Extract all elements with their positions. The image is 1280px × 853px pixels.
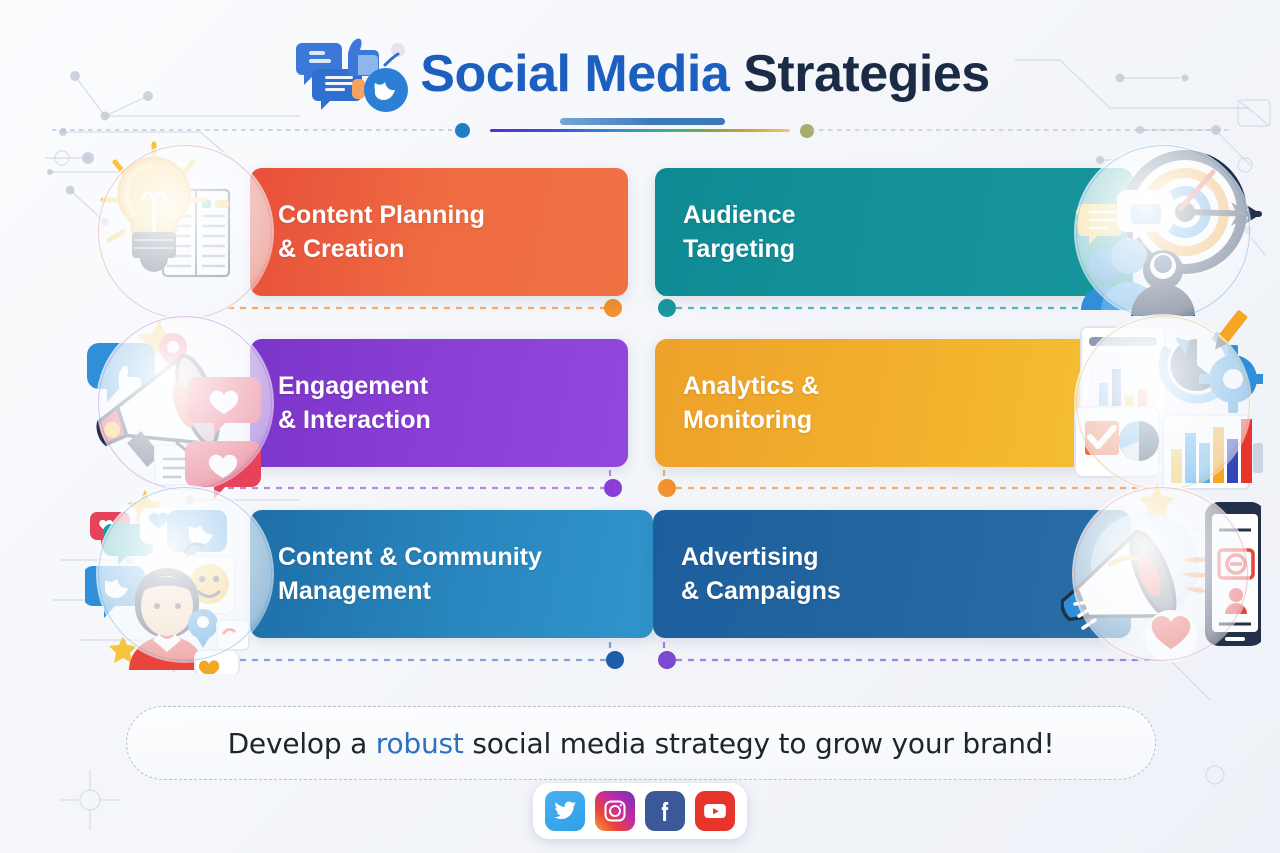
youtube-icon[interactable] [695,791,735,831]
divider-dashed-right [810,129,1230,131]
divider-dot-olive [800,124,814,138]
twitter-icon[interactable] [545,791,585,831]
card-title: Content & Community Management [250,540,552,608]
social-links-bar [533,783,747,839]
card-title: Content Planning & Creation [250,198,495,266]
divider-dashed-left [52,129,452,131]
divider-dot-blue [455,123,470,138]
card-analytics-monitoring[interactable]: Analytics & Monitoring [655,339,1133,467]
header-divider [0,118,1280,144]
target-audience-icon [1063,132,1263,332]
page-header: Social Media Strategies [0,24,1280,124]
card-title: Analytics & Monitoring [655,369,829,437]
footer-tagline: Develop a robust social media strategy t… [228,727,1055,760]
card-engagement-interaction[interactable]: Engagement & Interaction [250,339,628,467]
footer-banner: Develop a robust social media strategy t… [126,706,1156,780]
strategy-cards: Content Planning & Creation Audience Tar… [0,168,1280,681]
page-title: Social Media Strategies [420,44,989,104]
divider-blue-bar [560,118,725,125]
facebook-icon[interactable] [645,791,685,831]
megaphone-phone-icon [1061,474,1261,674]
card-row-3: Content & Community Management Advertisi… [0,510,1280,638]
card-row-1: Content Planning & Creation Audience Tar… [0,168,1280,296]
card-content-planning[interactable]: Content Planning & Creation [250,168,628,296]
instagram-icon[interactable] [595,791,635,831]
card-title: Engagement & Interaction [250,369,441,437]
card-title: Advertising & Campaigns [653,540,851,608]
card-audience-targeting[interactable]: Audience Targeting [655,168,1133,296]
footer-accent-word: robust [376,727,464,760]
footer-text-after: social media strategy to grow your brand… [464,727,1055,760]
page-title-secondary: Strategies [743,45,989,103]
page-title-primary: Social Media [420,45,729,103]
divider-gradient-line [490,129,790,132]
card-row-2: Engagement & Interaction Analytics & Mon… [0,339,1280,467]
card-advertising-campaigns[interactable]: Advertising & Campaigns [653,510,1131,638]
charts-gear-icon [1063,303,1263,503]
social-engagement-icons [290,33,410,115]
footer-text-before: Develop a [228,727,376,760]
card-title: Audience Targeting [655,198,806,266]
card-content-community[interactable]: Content & Community Management [250,510,653,638]
